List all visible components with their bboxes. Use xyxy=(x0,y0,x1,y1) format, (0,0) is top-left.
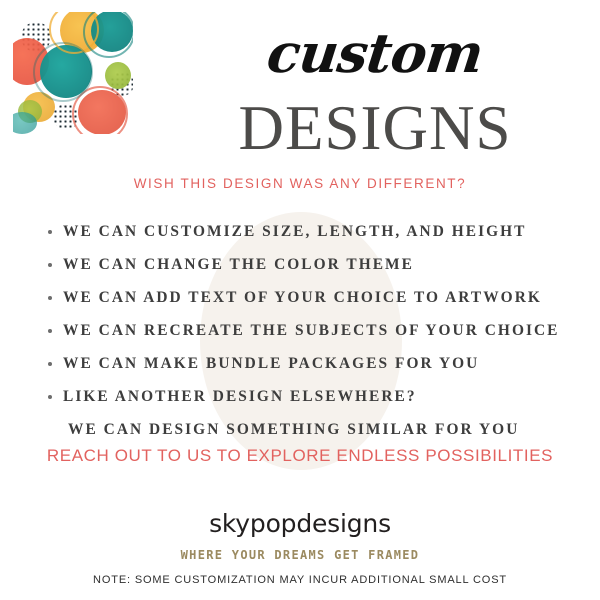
art-ring-teal xyxy=(83,12,133,58)
page-title: DESIGNS xyxy=(150,97,600,160)
list-item: WE CAN RECREATE THE SUBJECTS OF YOUR CHO… xyxy=(44,314,589,347)
benefits-list: WE CAN CUSTOMIZE SIZE, LENGTH, AND HEIGH… xyxy=(44,215,589,446)
brand-name: skypopdesigns xyxy=(0,509,600,538)
art-blob-lime-right xyxy=(105,62,131,89)
list-item-continuation: WE CAN DESIGN SOMETHING SIMILAR FOR YOU xyxy=(44,413,589,446)
subheadline: WISH THIS DESIGN WAS ANY DIFFERENT? xyxy=(0,176,600,191)
list-item: WE CAN ADD TEXT OF YOUR CHOICE TO ARTWOR… xyxy=(44,281,589,314)
art-blob-teal-bottomleft xyxy=(13,112,37,134)
headline-script-word: custom xyxy=(147,26,600,80)
list-item: WE CAN CHANGE THE COLOR THEME xyxy=(44,248,589,281)
footnote: NOTE: SOME CUSTOMIZATION MAY INCUR ADDIT… xyxy=(0,574,600,586)
list-item: LIKE ANOTHER DESIGN ELSEWHERE? xyxy=(44,380,589,413)
art-ring-darkteal xyxy=(33,42,93,102)
list-item: WE CAN CUSTOMIZE SIZE, LENGTH, AND HEIGH… xyxy=(44,215,589,248)
call-to-action-text: REACH OUT TO US TO EXPLORE ENDLESS POSSI… xyxy=(0,446,600,466)
brand-tagline: WHERE YOUR DREAMS GET FRAMED xyxy=(0,548,600,562)
list-item: WE CAN MAKE BUNDLE PACKAGES FOR YOU xyxy=(44,347,589,380)
artwork-thumbnail xyxy=(0,0,144,145)
artwork-canvas xyxy=(13,12,133,134)
